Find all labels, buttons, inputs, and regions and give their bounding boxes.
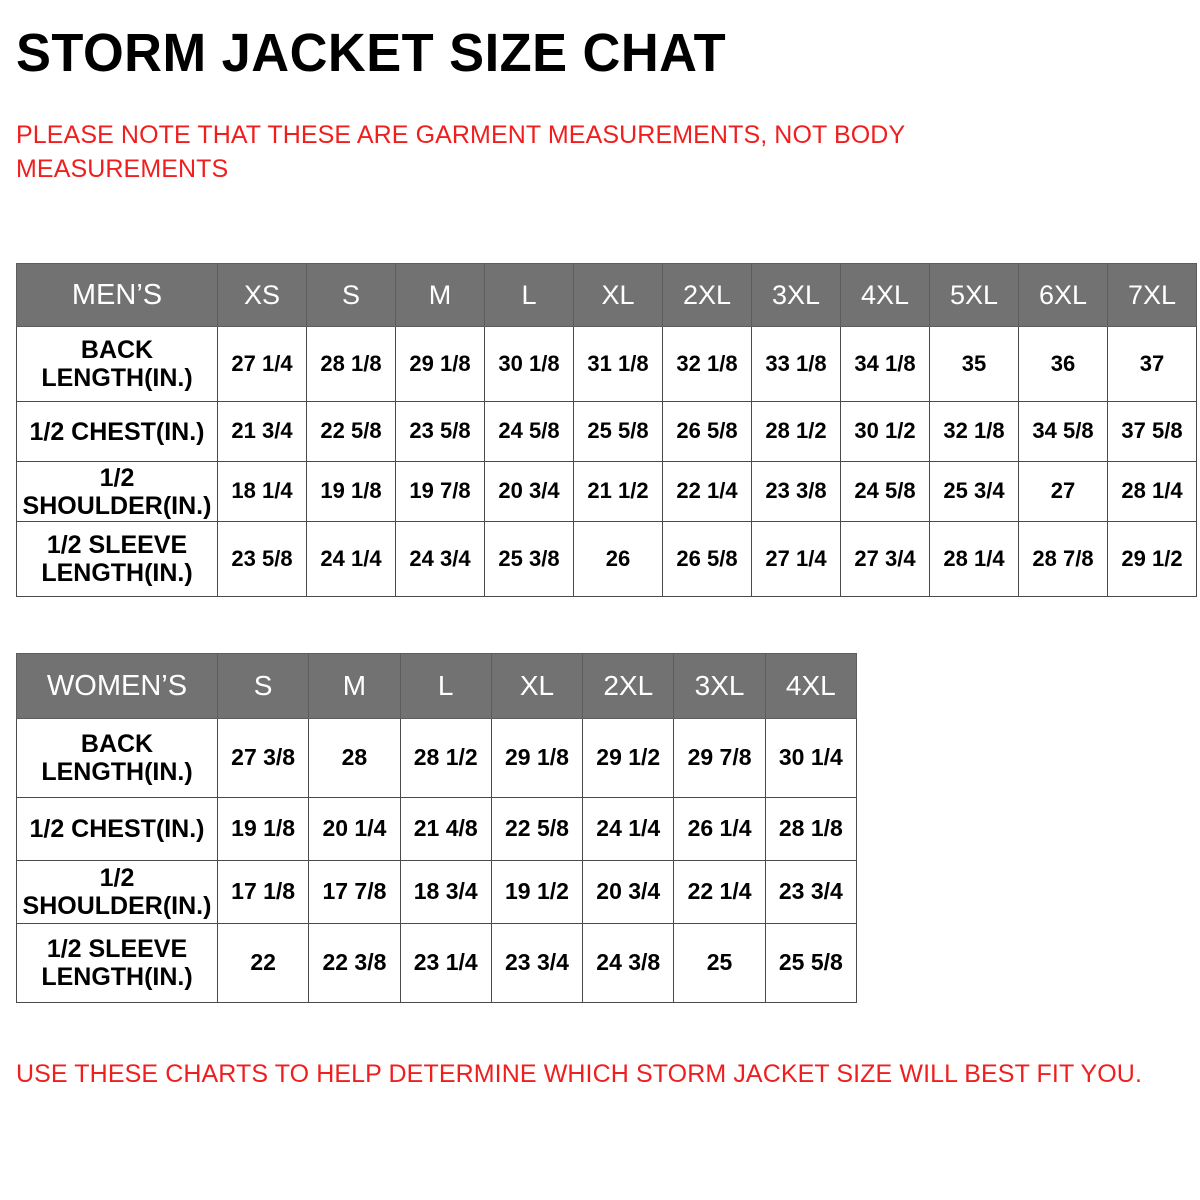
note-use-these-charts: USE THESE CHARTS TO HELP DETERMINE WHICH… (16, 1058, 1176, 1091)
measurement-cell: 27 3/4 (841, 522, 930, 597)
womens-size-table: WOMEN’SSMLXL2XL3XL4XL BACK LENGTH(IN.)27… (16, 653, 857, 1003)
measurement-cell: 22 5/8 (307, 402, 396, 462)
mens-table-header: MEN’SXSSMLXL2XL3XL4XL5XL6XL7XL (17, 264, 1197, 327)
measurement-cell: 19 7/8 (396, 462, 485, 522)
measurement-cell: 17 1/8 (218, 861, 309, 924)
womens-row-header: 1/2 SLEEVE LENGTH(IN.) (17, 924, 218, 1003)
measurement-cell: 21 4/8 (400, 798, 491, 861)
measurement-cell: 19 1/2 (491, 861, 582, 924)
measurement-cell: 37 (1108, 327, 1197, 402)
table-row: BACK LENGTH(IN.)27 1/428 1/829 1/830 1/8… (17, 327, 1197, 402)
measurement-cell: 27 3/8 (218, 719, 309, 798)
measurement-cell: 26 (574, 522, 663, 597)
measurement-cell: 22 1/4 (674, 861, 765, 924)
mens-column-header-s: S (307, 264, 396, 327)
measurement-cell: 22 1/4 (663, 462, 752, 522)
note-garment-measurements: PLEASE NOTE THAT THESE ARE GARMENT MEASU… (16, 118, 976, 186)
measurement-cell: 21 3/4 (218, 402, 307, 462)
measurement-cell: 35 (930, 327, 1019, 402)
measurement-cell: 36 (1019, 327, 1108, 402)
measurement-cell: 30 1/4 (765, 719, 856, 798)
womens-column-header-s: S (218, 654, 309, 719)
measurement-cell: 26 1/4 (674, 798, 765, 861)
mens-column-header-5xl: 5XL (930, 264, 1019, 327)
measurement-cell: 24 3/8 (583, 924, 674, 1003)
mens-row-header: 1/2 SLEEVE LENGTH(IN.) (17, 522, 218, 597)
measurement-cell: 20 3/4 (485, 462, 574, 522)
measurement-cell: 22 5/8 (491, 798, 582, 861)
measurement-cell: 20 1/4 (309, 798, 400, 861)
measurement-cell: 24 5/8 (485, 402, 574, 462)
table-row: 1/2 SLEEVE LENGTH(IN.)2222 3/823 1/423 3… (17, 924, 857, 1003)
measurement-cell: 26 5/8 (663, 522, 752, 597)
mens-column-header-7xl: 7XL (1108, 264, 1197, 327)
measurement-cell: 34 1/8 (841, 327, 930, 402)
womens-column-header-l: L (400, 654, 491, 719)
measurement-cell: 32 1/8 (663, 327, 752, 402)
measurement-cell: 24 1/4 (307, 522, 396, 597)
measurement-cell: 30 1/2 (841, 402, 930, 462)
measurement-cell: 28 1/8 (765, 798, 856, 861)
mens-column-header-xs: XS (218, 264, 307, 327)
measurement-cell: 32 1/8 (930, 402, 1019, 462)
measurement-cell: 28 1/8 (307, 327, 396, 402)
mens-column-header-m: M (396, 264, 485, 327)
size-chart-page: STORM JACKET SIZE CHAT PLEASE NOTE THAT … (0, 0, 1200, 1200)
measurement-cell: 17 7/8 (309, 861, 400, 924)
table-row: 1/2 SHOULDER(IN.)18 1/419 1/819 7/820 3/… (17, 462, 1197, 522)
measurement-cell: 29 1/8 (491, 719, 582, 798)
measurement-cell: 25 5/8 (574, 402, 663, 462)
measurement-cell: 24 5/8 (841, 462, 930, 522)
measurement-cell: 18 1/4 (218, 462, 307, 522)
womens-table-body: BACK LENGTH(IN.)27 3/82828 1/229 1/829 1… (17, 719, 857, 1003)
measurement-cell: 23 5/8 (396, 402, 485, 462)
mens-column-header-4xl: 4XL (841, 264, 930, 327)
measurement-cell: 25 3/8 (485, 522, 574, 597)
womens-column-header-4xl: 4XL (765, 654, 856, 719)
mens-row-header: BACK LENGTH(IN.) (17, 327, 218, 402)
measurement-cell: 23 3/4 (765, 861, 856, 924)
measurement-cell: 25 3/4 (930, 462, 1019, 522)
measurement-cell: 23 1/4 (400, 924, 491, 1003)
measurement-cell: 30 1/8 (485, 327, 574, 402)
mens-column-header-6xl: 6XL (1019, 264, 1108, 327)
measurement-cell: 19 1/8 (218, 798, 309, 861)
mens-corner-header: MEN’S (17, 264, 218, 327)
measurement-cell: 28 1/4 (1108, 462, 1197, 522)
measurement-cell: 37 5/8 (1108, 402, 1197, 462)
table-row: 1/2 SLEEVE LENGTH(IN.)23 5/824 1/424 3/4… (17, 522, 1197, 597)
mens-size-table: MEN’SXSSMLXL2XL3XL4XL5XL6XL7XL BACK LENG… (16, 263, 1197, 597)
measurement-cell: 28 (309, 719, 400, 798)
measurement-cell: 28 7/8 (1019, 522, 1108, 597)
measurement-cell: 23 5/8 (218, 522, 307, 597)
table-row: 1/2 CHEST(IN.)21 3/422 5/823 5/824 5/825… (17, 402, 1197, 462)
table-row: 1/2 SHOULDER(IN.)17 1/817 7/818 3/419 1/… (17, 861, 857, 924)
measurement-cell: 20 3/4 (583, 861, 674, 924)
measurement-cell: 22 3/8 (309, 924, 400, 1003)
womens-row-header: 1/2 SHOULDER(IN.) (17, 861, 218, 924)
measurement-cell: 29 7/8 (674, 719, 765, 798)
womens-column-header-xl: XL (491, 654, 582, 719)
mens-column-header-l: L (485, 264, 574, 327)
measurement-cell: 34 5/8 (1019, 402, 1108, 462)
mens-row-header: 1/2 CHEST(IN.) (17, 402, 218, 462)
womens-column-header-3xl: 3XL (674, 654, 765, 719)
measurement-cell: 33 1/8 (752, 327, 841, 402)
measurement-cell: 24 3/4 (396, 522, 485, 597)
measurement-cell: 21 1/2 (574, 462, 663, 522)
page-title: STORM JACKET SIZE CHAT (16, 25, 726, 82)
measurement-cell: 26 5/8 (663, 402, 752, 462)
measurement-cell: 28 1/4 (930, 522, 1019, 597)
measurement-cell: 25 5/8 (765, 924, 856, 1003)
measurement-cell: 18 3/4 (400, 861, 491, 924)
table-row: BACK LENGTH(IN.)27 3/82828 1/229 1/829 1… (17, 719, 857, 798)
table-row: 1/2 CHEST(IN.)19 1/820 1/421 4/822 5/824… (17, 798, 857, 861)
womens-corner-header: WOMEN’S (17, 654, 218, 719)
womens-row-header: 1/2 CHEST(IN.) (17, 798, 218, 861)
measurement-cell: 24 1/4 (583, 798, 674, 861)
measurement-cell: 27 1/4 (752, 522, 841, 597)
measurement-cell: 28 1/2 (400, 719, 491, 798)
mens-column-header-2xl: 2XL (663, 264, 752, 327)
mens-row-header: 1/2 SHOULDER(IN.) (17, 462, 218, 522)
measurement-cell: 31 1/8 (574, 327, 663, 402)
measurement-cell: 29 1/2 (583, 719, 674, 798)
mens-column-header-xl: XL (574, 264, 663, 327)
mens-column-header-3xl: 3XL (752, 264, 841, 327)
measurement-cell: 22 (218, 924, 309, 1003)
measurement-cell: 29 1/8 (396, 327, 485, 402)
measurement-cell: 27 (1019, 462, 1108, 522)
measurement-cell: 25 (674, 924, 765, 1003)
measurement-cell: 28 1/2 (752, 402, 841, 462)
womens-table-header: WOMEN’SSMLXL2XL3XL4XL (17, 654, 857, 719)
womens-column-header-m: M (309, 654, 400, 719)
womens-column-header-2xl: 2XL (583, 654, 674, 719)
womens-header-row: WOMEN’SSMLXL2XL3XL4XL (17, 654, 857, 719)
measurement-cell: 27 1/4 (218, 327, 307, 402)
measurement-cell: 29 1/2 (1108, 522, 1197, 597)
mens-table-body: BACK LENGTH(IN.)27 1/428 1/829 1/830 1/8… (17, 327, 1197, 597)
womens-row-header: BACK LENGTH(IN.) (17, 719, 218, 798)
mens-header-row: MEN’SXSSMLXL2XL3XL4XL5XL6XL7XL (17, 264, 1197, 327)
measurement-cell: 23 3/4 (491, 924, 582, 1003)
measurement-cell: 23 3/8 (752, 462, 841, 522)
measurement-cell: 19 1/8 (307, 462, 396, 522)
